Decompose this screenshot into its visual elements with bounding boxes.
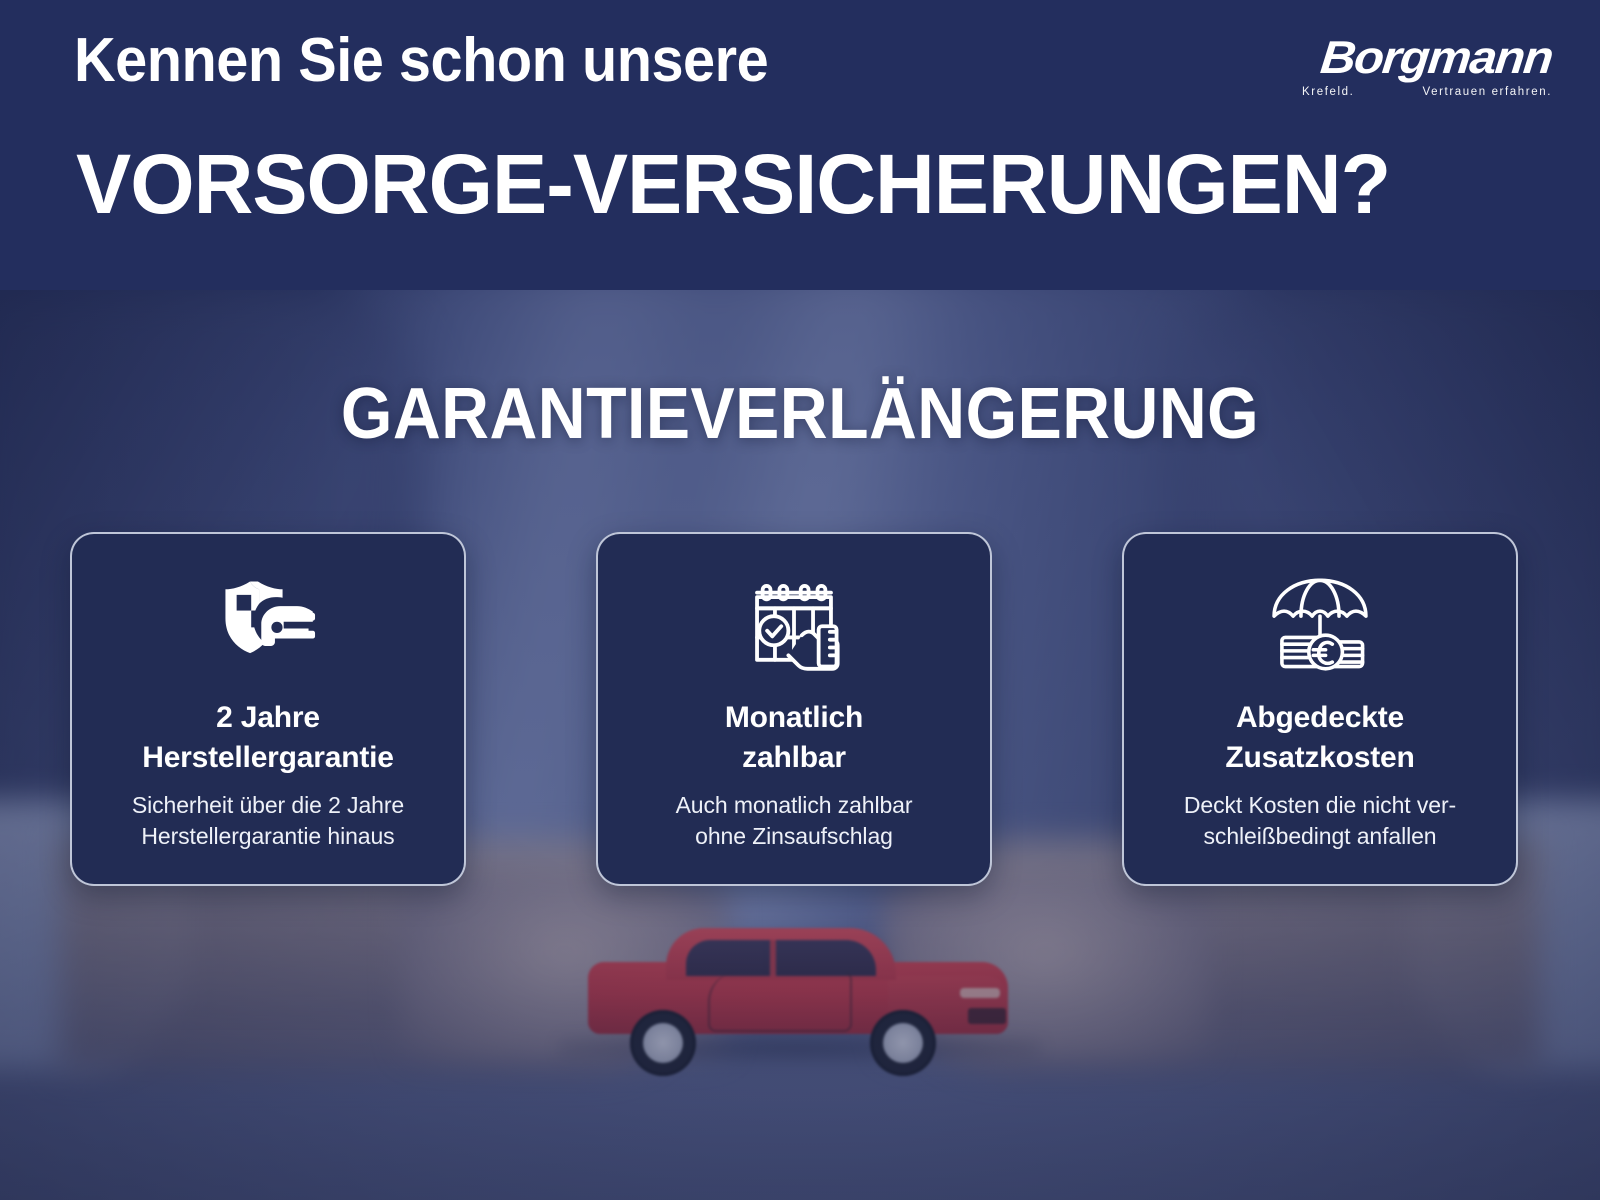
feature-card-title: Abgedeckte Zusatzkosten xyxy=(1225,698,1414,778)
headline-kicker: Kennen Sie schon unsere xyxy=(74,28,768,93)
shield-car-icon xyxy=(212,568,324,680)
page-title: GARANTIEVERLÄNGERUNG xyxy=(64,378,1536,450)
borgmann-logo[interactable]: Borgmann Krefeld. Vertrauen erfahren. xyxy=(1302,34,1552,110)
logo-wordmark: Borgmann xyxy=(1285,34,1555,80)
feature-card-description: Deckt Kosten die nicht ver- schleißbedin… xyxy=(1184,790,1456,851)
promo-banner: Kennen Sie schon unsere VORSORGE-VERSICH… xyxy=(0,0,1600,1200)
feature-card-monthly-payment[interactable]: Monatlich zahlbar Auch monatlich zahlbar… xyxy=(596,532,992,886)
feature-card-description: Auch monatlich zahlbar ohne Zinsaufschla… xyxy=(676,790,913,851)
feature-card-extra-costs[interactable]: Abgedeckte Zusatzkosten Deckt Kosten die… xyxy=(1122,532,1518,886)
feature-card-title: Monatlich zahlbar xyxy=(725,698,863,778)
feature-card-title: 2 Jahre Herstellergarantie xyxy=(142,698,394,778)
header-bar: Kennen Sie schon unsere VORSORGE-VERSICH… xyxy=(0,0,1600,290)
feature-card-list: 2 Jahre Herstellergarantie Sicherheit üb… xyxy=(70,532,1518,886)
headline-main: VORSORGE-VERSICHERUNGEN? xyxy=(76,140,1390,228)
logo-tagline-row: Krefeld. Vertrauen erfahren. xyxy=(1302,86,1552,98)
umbrella-coins-euro-icon xyxy=(1264,568,1376,680)
logo-city: Krefeld. xyxy=(1302,86,1354,98)
feature-card-warranty[interactable]: 2 Jahre Herstellergarantie Sicherheit üb… xyxy=(70,532,466,886)
calendar-payment-icon xyxy=(738,568,850,680)
logo-tagline: Vertrauen erfahren. xyxy=(1423,86,1553,98)
feature-card-description: Sicherheit über die 2 Jahre Herstellerga… xyxy=(132,790,404,851)
